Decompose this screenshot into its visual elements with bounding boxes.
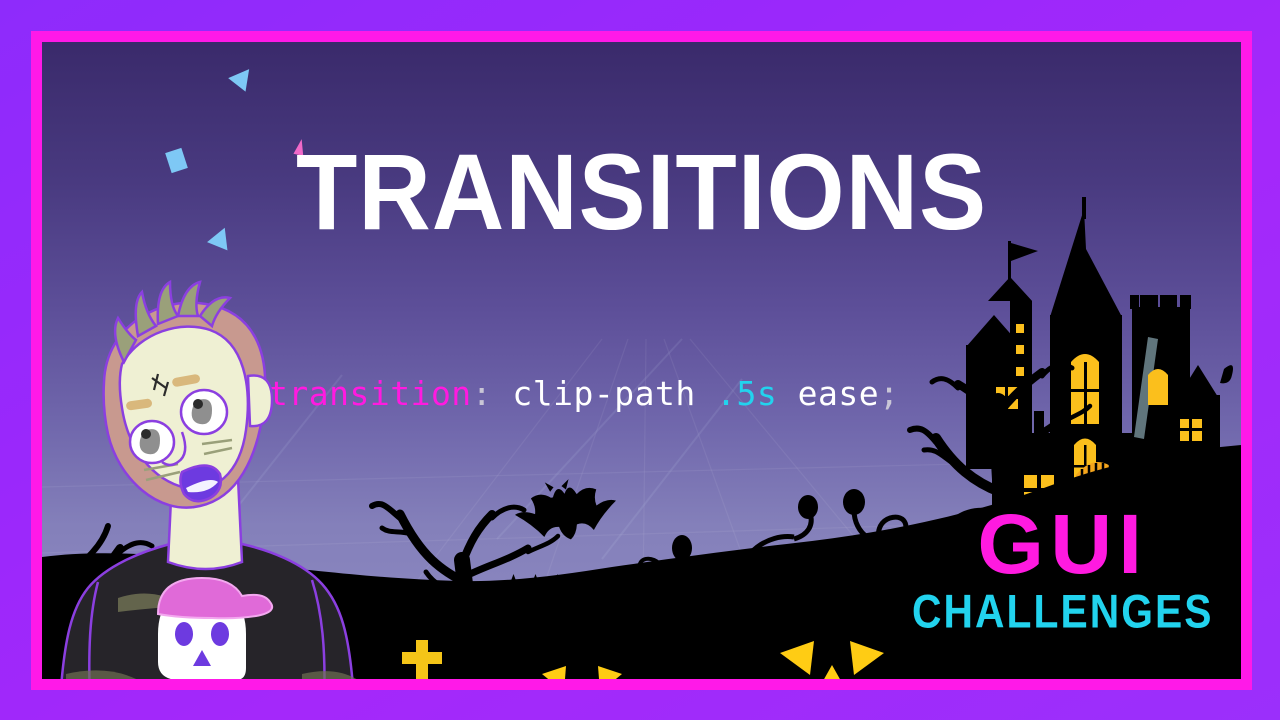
code-token-easing: ease — [777, 374, 879, 413]
jack-o-lantern — [732, 587, 932, 679]
brand-secondary: CHALLENGES — [912, 589, 1213, 634]
neon-frame-border: TRANSITIONS transition: clip-path .5s ea… — [31, 31, 1252, 690]
bat-icon — [497, 477, 617, 547]
code-token-duration: .5s — [716, 374, 777, 413]
confetti-triangle-blue — [228, 62, 258, 91]
brand-primary: GUI — [912, 504, 1213, 585]
gold-cross-tombstone — [372, 582, 482, 679]
presenter-avatar — [54, 282, 384, 679]
code-token-colon: : — [472, 374, 492, 413]
code-token-value: clip-path — [492, 374, 716, 413]
brand-lockup: GUI CHALLENGES — [915, 504, 1211, 631]
thumbnail-canvas: TRANSITIONS transition: clip-path .5s ea… — [0, 0, 1280, 720]
halloween-night-scene: TRANSITIONS transition: clip-path .5s ea… — [42, 42, 1241, 679]
presenter-mask — [104, 282, 272, 508]
code-token-semicolon: ; — [879, 374, 899, 413]
jack-o-lantern — [504, 622, 664, 679]
